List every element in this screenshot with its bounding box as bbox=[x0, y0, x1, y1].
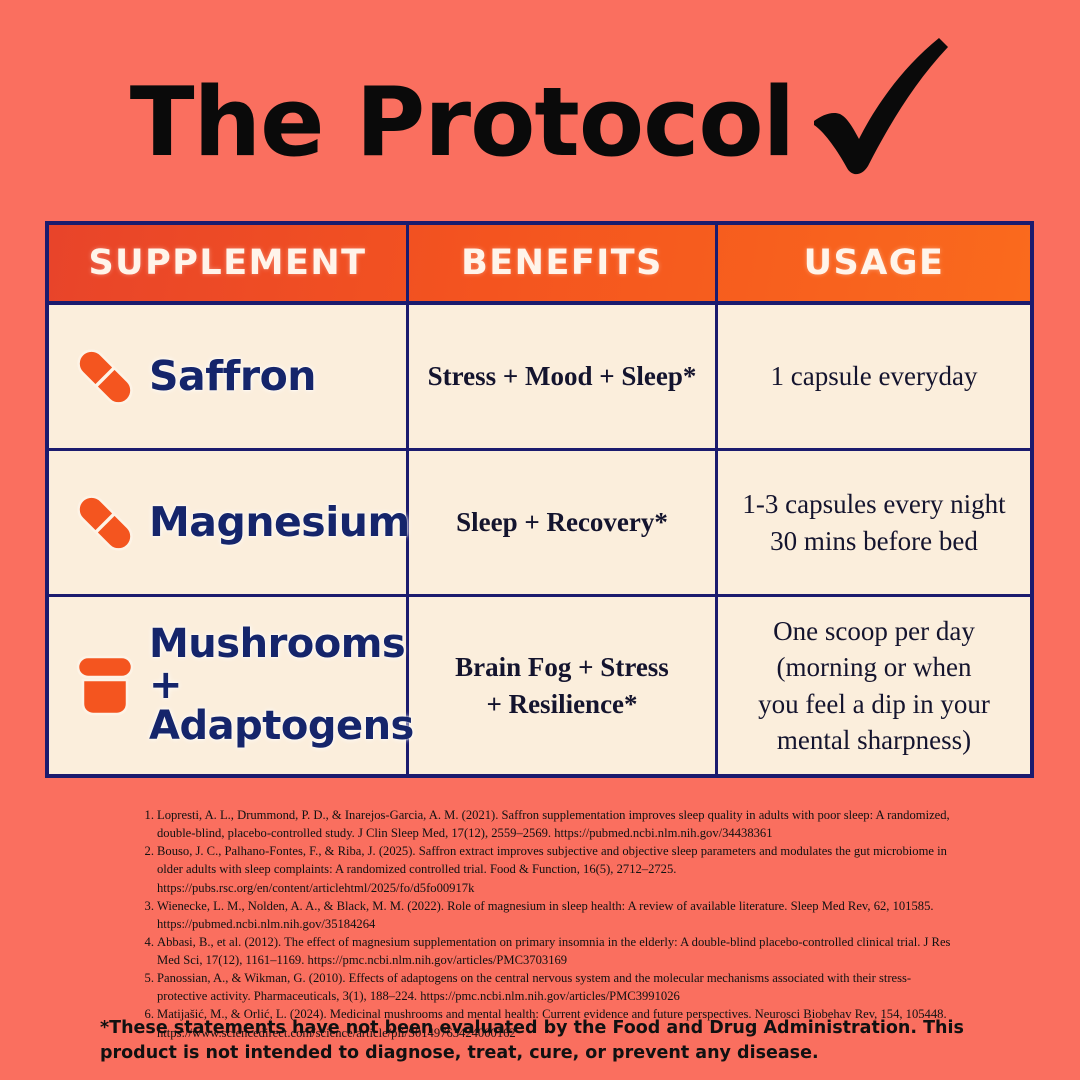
usage-cell: One scoop per day(morning or whenyou fee… bbox=[718, 597, 1030, 774]
reference-number: 3. bbox=[140, 897, 157, 915]
page-header: The Protocol bbox=[0, 62, 1080, 184]
usage-cell: 1 capsule everyday bbox=[718, 305, 1030, 448]
usage-cell: 1-3 capsules every night30 mins before b… bbox=[718, 451, 1030, 594]
supplement-cell: Magnesium bbox=[49, 451, 409, 594]
reference-text: Abbasi, B., et al. (2012). The effect of… bbox=[157, 933, 960, 969]
column-header-usage: USAGE bbox=[718, 225, 1030, 301]
benefits-cell: Brain Fog + Stress+ Resilience* bbox=[409, 597, 718, 774]
protocol-table: SUPPLEMENT BENEFITS USAGE Saffron Stress… bbox=[45, 221, 1034, 778]
reference-text: Panossian, A., & Wikman, G. (2010). Effe… bbox=[157, 969, 960, 1005]
table-row: Saffron Stress + Mood + Sleep* 1 capsule… bbox=[49, 305, 1030, 451]
reference-item: 4. Abbasi, B., et al. (2012). The effect… bbox=[140, 933, 960, 969]
supplement-name: Magnesium bbox=[149, 502, 410, 544]
reference-number: 4. bbox=[140, 933, 157, 951]
benefits-cell: Stress + Mood + Sleep* bbox=[409, 305, 718, 448]
supplement-name: Saffron bbox=[149, 356, 316, 398]
reference-number: 5. bbox=[140, 969, 157, 987]
reference-item: 2. Bouso, J. C., Palhano-Fontes, F., & R… bbox=[140, 842, 960, 896]
supplement-name: Mushrooms+ Adaptogens bbox=[149, 624, 414, 746]
page-title: The Protocol bbox=[130, 76, 795, 171]
reference-item: 5. Panossian, A., & Wikman, G. (2010). E… bbox=[140, 969, 960, 1005]
table-header-row: SUPPLEMENT BENEFITS USAGE bbox=[49, 225, 1030, 305]
reference-text: Wienecke, L. M., Nolden, A. A., & Black,… bbox=[157, 897, 960, 933]
supplement-jar-icon bbox=[67, 644, 143, 726]
table-row: Magnesium Sleep + Recovery* 1-3 capsules… bbox=[49, 451, 1030, 597]
reference-text: Bouso, J. C., Palhano-Fontes, F., & Riba… bbox=[157, 842, 960, 896]
reference-text: Lopresti, A. L., Drummond, P. D., & Inar… bbox=[157, 806, 960, 842]
reference-item: 1. Lopresti, A. L., Drummond, P. D., & I… bbox=[140, 806, 960, 842]
table-row: Mushrooms+ Adaptogens Brain Fog + Stress… bbox=[49, 597, 1030, 774]
reference-item: 3. Wienecke, L. M., Nolden, A. A., & Bla… bbox=[140, 897, 960, 933]
fda-disclaimer: *These statements have not been evaluate… bbox=[100, 1016, 980, 1066]
references-list: 1. Lopresti, A. L., Drummond, P. D., & I… bbox=[140, 806, 960, 1042]
column-header-supplement: SUPPLEMENT bbox=[49, 225, 409, 301]
supplement-cell: Mushrooms+ Adaptogens bbox=[49, 597, 409, 774]
supplement-cell: Saffron bbox=[49, 305, 409, 448]
benefits-cell: Sleep + Recovery* bbox=[409, 451, 718, 594]
reference-number: 1. bbox=[140, 806, 157, 824]
capsule-pill-icon bbox=[67, 336, 143, 418]
capsule-pill-icon bbox=[67, 482, 143, 564]
column-header-benefits: BENEFITS bbox=[409, 225, 718, 301]
reference-number: 2. bbox=[140, 842, 157, 860]
checkmark-icon bbox=[800, 35, 950, 185]
